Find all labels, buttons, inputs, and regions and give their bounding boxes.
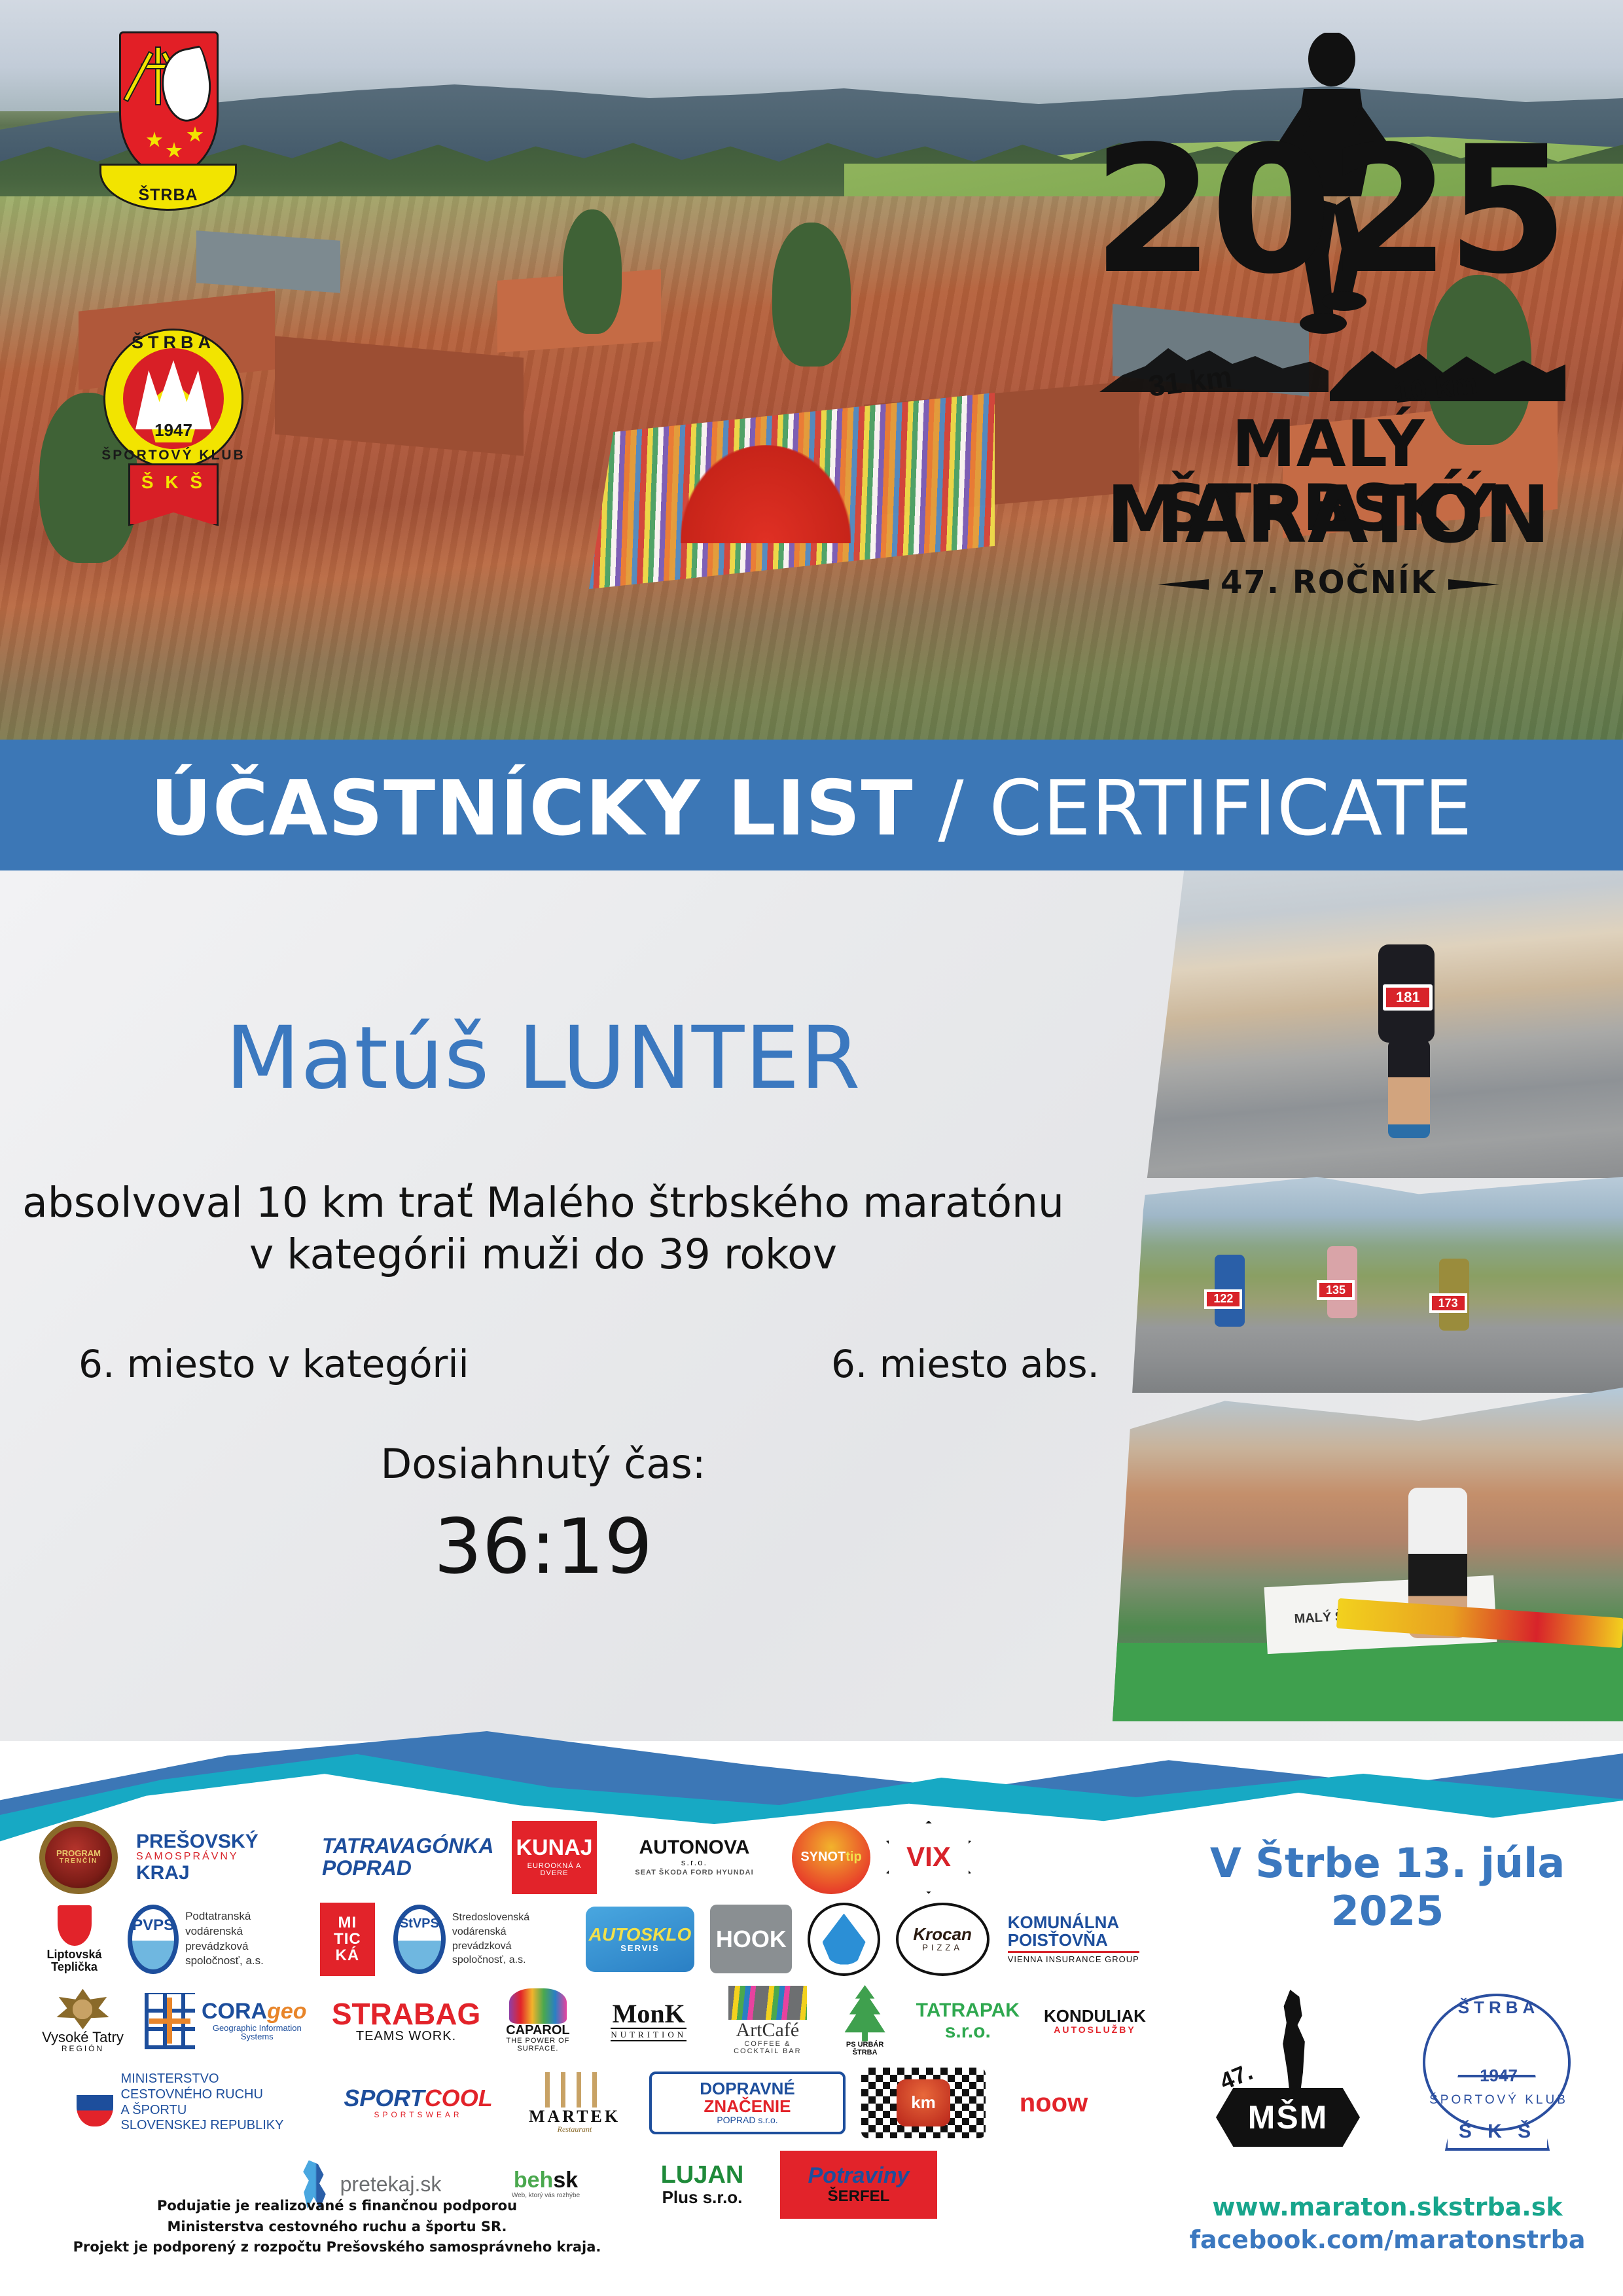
sponsor-km-motocentrum: km [861,2068,986,2138]
grid-icon [145,1993,195,2049]
sponsor-line-2: prevádzková spoločnosť, a.s. [185,1939,302,1969]
sponsor-label: HOOK [716,1927,787,1952]
sponsor-line-2: ZNAČENIE [704,2098,791,2115]
sponsor-artcafe: ArtCafé COFFEE & COCKTAIL BAR [719,1984,816,2058]
sponsor-pvps: PVPS Podtatranská vodárenská prevádzková… [125,1903,304,1976]
runner-legs [1388,1040,1430,1138]
sks-stamp: ŠTRBA 1947 ŠPORTOVÝ KLUB Š K Š [1414,1983,1584,2160]
photo-finish-man: MALÝ ŠTRBSKÝ MARATÓN [1113,1388,1623,1721]
sponsor-autosklo-servis: AUTOSKLO SERVIS [586,1907,695,1972]
sponsor-potraviny-serfel: Potraviny ŠERFEL [780,2151,937,2219]
edelweiss-icon [56,1989,109,2030]
sponsor-noow: noow [1001,2066,1106,2140]
website-link[interactable]: www.maraton.skstrba.sk [1171,2193,1603,2221]
sponsor-ps-urbar-strba: PS URBÁR ŠTRBA [832,1984,898,2058]
sponsor-komunalna-poistovna: KOMUNÁLNA POISŤOVŇA VIENNA INSURANCE GRO… [1005,1903,1152,1976]
shield [119,31,219,177]
sponsor-label: AUTONOVA [639,1837,750,1858]
sponsor-line-1: KOMUNÁLNA [1008,1914,1119,1931]
sponsor-sublabel: Geographic Information Systems [202,2024,313,2041]
sponsor-caparol: CAPAROL THE POWER OF SURFACE. [497,1984,579,2058]
sponsor-vix: VIX [886,1821,971,1894]
sponsor-accent: tip [846,1850,861,1864]
sponsor-krocan-pizza: Krocan PIZZA [896,1903,990,1976]
stripes-icon [728,1986,807,2020]
sponsor-miticka: MI TIC KÁ [320,1903,375,1976]
race-bib: 122 [1204,1289,1242,1309]
sponsor-lujan-plus: LUJAN Plus s.r.o. [640,2148,764,2221]
sponsor-line-1: Vysoké Tatry [42,2030,124,2045]
sponsor-presovsky-kraj: PREŠOVSKÝ SAMOSPRÁVNY KRAJ [134,1821,304,1894]
sponsor-line-2: Teplička [51,1961,98,1973]
sponsor-line-1: PREŠOVSKÝ [136,1831,259,1852]
sponsor-label: CORA [202,1999,267,2024]
club-bottom-text: ŠPORTOVÝ KLUB [98,448,249,463]
sponsor-abbr: StVPS [393,1905,446,1974]
sponsor-label: CAPAROL [506,2024,569,2037]
race-bib: 173 [1429,1293,1467,1313]
sponsor-line-1: Stredoslovenská vodárenská [452,1910,567,1939]
sponsor-label: MI TIC KÁ [323,1914,372,1964]
sponsor-label: pretekaj.sk [340,2174,442,2196]
sponsor-line-2: CESTOVNÉHO RUCHU [121,2087,284,2103]
sponsor-label: LUJAN [661,2162,744,2189]
sponsor-tatrapak: TATRAPAK s.r.o. [914,1984,1022,2058]
sponsor-sublabel: TRENČÍN [60,1858,98,1865]
sponsor-label: MARTEK [529,2108,620,2125]
sponsor-monk-nutrition: MonK NUTRITION [594,1984,703,2058]
sponsor-dopravne-znacenie: DOPRAVNÉ ZNAČENIE POPRAD s.r.o. [649,2072,846,2134]
title-en: CERTIFICATE [990,764,1473,853]
race-edition: 47. ROČNÍK [1073,564,1584,601]
club-abbr: Š K Š [141,465,205,493]
sponsor-line-1: MINISTERSTVO [121,2072,284,2087]
club-banner: Š K Š [128,463,219,526]
sponsor-sublabel: ŠERFEL [828,2188,890,2204]
sponsor-line-4: SLOVENSKEJ REPUBLIKY [121,2118,284,2134]
sponsor-row-2: Liptovská Teplička PVPS Podtatranská vod… [39,1898,1152,1980]
sponsor-line-1: Liptovská [47,1948,102,1961]
support-note: Podujatie je realizované s finančnou pod… [65,2196,609,2258]
elephant-icon [509,1988,567,2024]
sponsor-sublabel: SERVIS [620,1944,659,1953]
tree [563,209,622,334]
sponsor-abbr: PVPS [128,1905,179,1974]
sponsor-kunaj: KUNAJ EUROOKNÁ A DVERE [512,1821,597,1894]
race-bib: 135 [1317,1280,1355,1300]
sponsor-sublabel: PS URBÁR ŠTRBA [835,2041,895,2056]
sponsor-brands: SEAT ŠKODA FORD HYUNDAI [635,1869,753,1877]
sponsor-sportcool: SPORTCOOL SPORTSWEAR [336,2066,500,2140]
sponsor-label: TATRAPAK s.r.o. [916,2000,1020,2041]
club-top-text: ŠTRBA [98,332,249,353]
sponsor-line-1: DOPRAVNÉ [700,2080,794,2098]
participant-name: Matúš LUNTER [0,1008,1086,1109]
sponsor-sublabel: EUROOKNÁ A DVERE [514,1863,594,1878]
sponsor-sublabel: COFFEE & COCKTAIL BAR [721,2041,813,2056]
sponsor-synot-tip: SYNOTtip [792,1821,870,1894]
sponsor-label: AUTOSKLO [589,1925,692,1944]
sponsor-label: Krocan [913,1926,972,1943]
sponsor-text: MINISTERSTVO CESTOVNÉHO RUCHU A ŠPORTU S… [121,2072,284,2133]
star-icon [166,142,183,159]
race-logo: 2025 31 km 10 km MALÝ ŠTRBSKÝ MARATÓN 47… [1073,33,1584,609]
sponsor-tatravagonka: TATRAVAGÓNKA POPRAD [319,1821,496,1894]
sponsor-sublabel: Plus s.r.o. [662,2189,743,2206]
description-line-2: v kategórii muži do 39 rokov [0,1229,1086,1280]
stamp-top-text: ŠTRBA [1414,1998,1584,2018]
sponsor-sublabel: SPORTSWEAR [374,2111,462,2119]
sponsor-title: SPORTCOOL [344,2086,492,2111]
sponsor-label: beh [514,2168,553,2193]
sponsor-hook: HOOK [710,1905,792,1973]
place-absolute: 6. miesto abs. [831,1342,1099,1386]
sponsor-label: km [897,2079,950,2126]
cutlery-icon [545,2072,604,2108]
star-icon [146,132,163,149]
sponsor-stvps: StVPS Stredoslovenská vodárenská prevádz… [391,1903,570,1976]
sponsor-label: MonK [613,2000,685,2028]
place-category: 6. miesto v kategórii [79,1342,469,1386]
time-label: Dosiahnutý čas: [0,1440,1086,1488]
sponsor-line-3: A ŠPORTU [121,2103,284,2119]
sponsor-strabag: STRABAG TEAMS WORK. [331,1984,482,2058]
sponsor-autonova: AUTONOVA s.r.o. SEAT ŠKODA FORD HYUNDAI [613,1821,776,1894]
facebook-link[interactable]: facebook.com/maratonstrba [1171,2225,1603,2254]
sponsor-line-3: KRAJ [136,1863,190,1884]
sponsor-program-trencin: PROGRAM TRENČÍN [39,1821,118,1894]
sponsor-logos: PROGRAM TRENČÍN PREŠOVSKÝ SAMOSPRÁVNY KR… [39,1816,1152,2183]
photo-finish-woman: 181 [1113,870,1623,1178]
sponsor-martek-restaurant: MARTEK Restaurant [516,2066,633,2140]
sponsor-sublabel: POPRAD s.r.o. [717,2115,777,2125]
page-title: ÚČASTNÍCKY LIST / CERTIFICATE [151,764,1473,853]
certificate-title-banner: ÚČASTNÍCKY LIST / CERTIFICATE [0,740,1623,877]
sponsor-vysoke-tatry: Vysoké Tatry REGIÓN [39,1984,126,2058]
race-distances: 31 km 10 km [1073,331,1584,409]
sponsor-line-2: prevádzková spoločnosť, a.s. [452,1939,567,1967]
msm-abbr: MŠM [1216,2088,1360,2147]
sponsor-sublabel: REGIÓN [62,2045,104,2053]
sponsor-label: ArtCafé [736,2020,800,2041]
sponsor-liptovska-teplicka: Liptovská Teplička [39,1903,109,1976]
race-title-line2: MARATÓN [1073,476,1584,555]
description-line-1: absolvoval 10 km trať Malého štrbského m… [0,1177,1086,1229]
sponsor-row-4: MINISTERSTVO CESTOVNÉHO RUCHU A ŠPORTU S… [39,2062,1152,2144]
sponsor-line-1: Podtatranská vodárenská [185,1909,302,1939]
sponsor-accent: sk [553,2168,578,2193]
sponsor-label: Potraviny [808,2164,910,2188]
race-year: 2025 [1073,137,1584,285]
sponsor-label: STRABAG [332,1998,480,2030]
sponsor-konduliak: KONDULIAK AUTOSLUŽBY [1038,1984,1152,2058]
crest-label: ŠTRBA [138,186,198,209]
strba-coat-of-arms: ŠTRBA [99,31,237,215]
sponsor-line-2: SAMOSPRÁVNY [136,1852,239,1863]
sponsor-text: Podtatranská vodárenská prevádzková spol… [185,1909,302,1969]
club-year: 1947 [98,420,249,440]
sks-club-logo: ŠTRBA 1947 ŠPORTOVÝ KLUB Š K Š [98,314,249,530]
sponsor-text: CORAgeo Geographic Information Systems [202,2000,313,2041]
slovak-emblem-icon [77,2079,113,2126]
sponsor-label: KUNAJ [516,1837,592,1860]
stamp-triangle: Š K Š [1445,2081,1550,2151]
sponsor-row-3: Vysoké Tatry REGIÓN CORAgeo Geographic I… [39,1980,1152,2062]
sponsor-accent: COOL [425,2085,493,2111]
sponsor-label: SYNOT [800,1850,846,1864]
sponsor-sublabel: VIENNA INSURANCE GROUP [1008,1951,1139,1964]
roof [275,336,524,456]
photo-collage: 181 122 135 173 MALÝ ŠTRBSKÝ MARATÓN [1113,870,1623,1721]
sponsor-sublabel: PIZZA [922,1943,963,1952]
msm-logo: 47. MŠM [1211,1990,1368,2160]
sponsor-label: KONDULIAK [1044,2007,1146,2025]
tree [772,223,851,367]
sponsor-ministerstvo: MINISTERSTVO CESTOVNÉHO RUCHU A ŠPORTU S… [39,2066,321,2140]
race-bib: 181 [1383,984,1433,1011]
sponsor-label: noow [1020,2089,1088,2117]
sponsor-sublabel: NUTRITION [611,2028,687,2042]
tree-icon [841,1985,889,2041]
sponsor-sublabel: AUTOSLUŽBY [1054,2025,1135,2035]
sponsor-line-2: POPRAD [322,1857,412,1880]
roof [196,230,340,293]
shield-icon [58,1905,92,1946]
certificate-description: absolvoval 10 km trať Malého štrbského m… [0,1177,1086,1281]
sponsor-title: CORAgeo [202,2000,313,2024]
sponsor-line-1: TATRAVAGÓNKA [322,1835,493,1857]
sponsor-pd-strba [808,1903,880,1976]
crest-ribbon: ŠTRBA [99,164,237,211]
sponsor-sublabel: TEAMS WORK. [356,2030,456,2043]
placement-row: 6. miesto v kategórii 6. miesto abs. [79,1342,1099,1386]
sponsor-title: behsk [514,2169,578,2193]
star-icon [187,126,204,143]
time-value: 36:19 [0,1503,1086,1591]
sponsor-sublabel: Restaurant [558,2125,592,2134]
sponsor-sublabel: s.r.o. [681,1858,707,1867]
sponsor-sublabel: THE POWER OF SURFACE. [500,2037,577,2053]
sponsor-row-1: PROGRAM TRENČÍN PREŠOVSKÝ SAMOSPRÁVNY KR… [39,1816,1152,1898]
event-date: V Štrbe 13. júla 2025 [1171,1839,1603,1935]
water-drop-icon [823,1914,866,1965]
title-separator: / [914,764,990,853]
photo-runners-on-road: 122 135 173 [1113,1177,1623,1393]
sponsor-corageo: CORAgeo Geographic Information Systems [142,1984,315,2058]
sponsor-text: Stredoslovenská vodárenská prevádzková s… [452,1910,567,1967]
title-sk: ÚČASTNÍCKY LIST [151,764,914,853]
sponsor-accent: geo [267,1999,306,2024]
sponsor-line-2: POISŤOVŇA [1008,1931,1108,1949]
sponsor-label: SPORT [344,2085,424,2111]
stamp-abbr: Š K Š [1459,2121,1536,2148]
sponsor-label: VIX [906,1842,951,1871]
